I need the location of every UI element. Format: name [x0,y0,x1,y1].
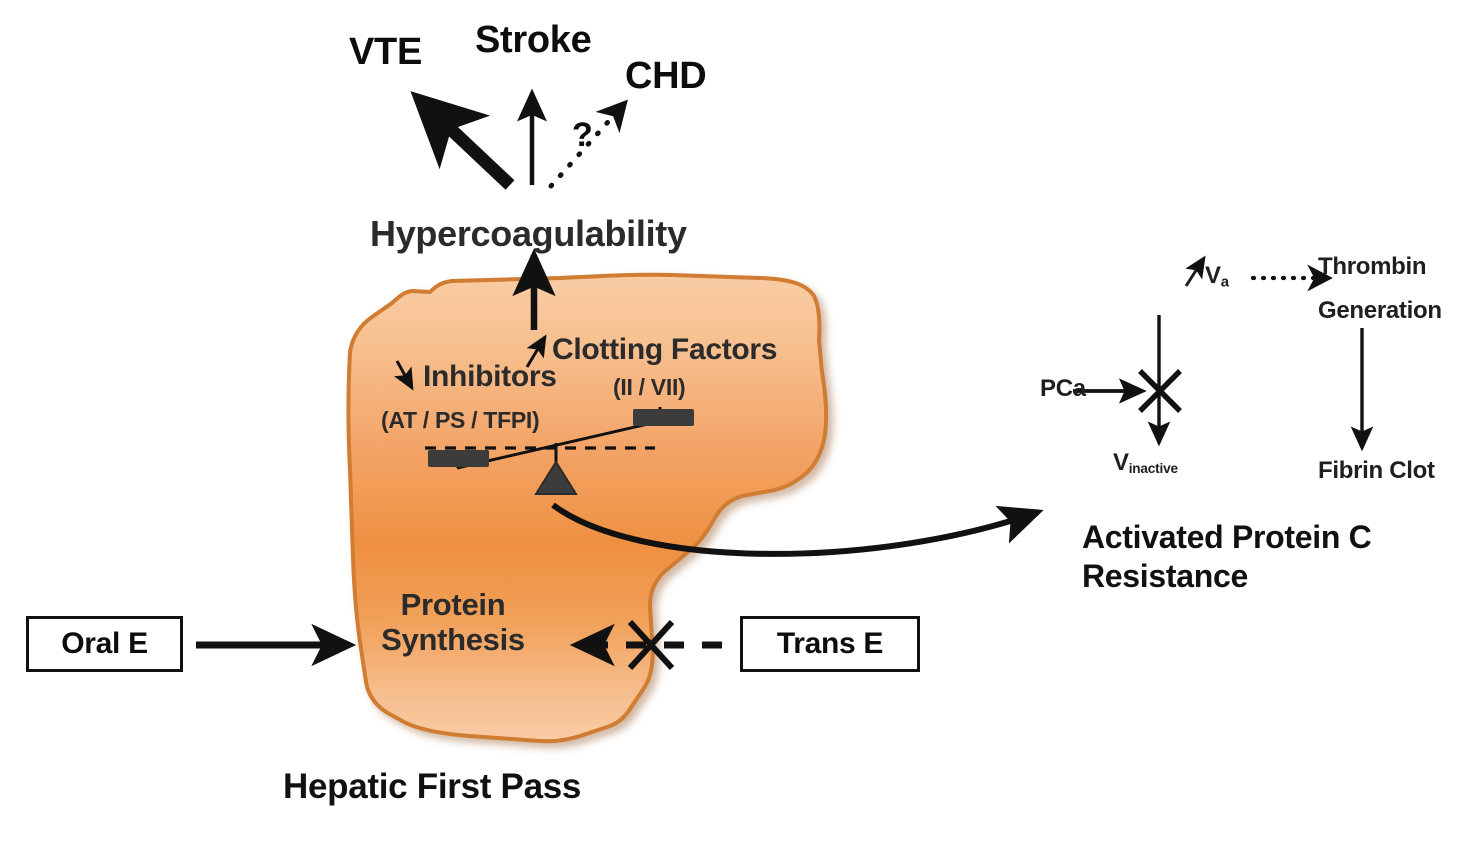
outcome-label-stroke: Stroke [475,19,591,62]
factor-va-label: Va [1205,263,1229,291]
apc-resistance-title: Activated Protein C Resistance [1082,518,1412,596]
hypercoagulability-label: Hypercoagulability [370,214,687,254]
diagram-canvas: VTE Stroke CHD ? Hypercoagulability Clot… [0,0,1472,841]
weight-clotting-factors [633,409,694,426]
v-inactive-symbol: V [1113,449,1129,476]
inhibitors-detail: (AT / PS / TFPI) [381,408,539,434]
figure-caption: Hepatic First Pass [283,767,581,806]
v-inactive-subscript: inactive [1129,461,1178,476]
oral-estrogen-box[interactable]: Oral E [26,616,183,672]
apc-resistance-line2: Resistance [1082,557,1412,596]
diagram-vector-layer [0,0,1472,841]
transdermal-estrogen-box[interactable]: Trans E [740,616,920,672]
protein-synthesis-line2: Synthesis [358,623,548,658]
inhibitors-label: Inhibitors [423,360,557,394]
factor-va-symbol: V [1205,262,1221,289]
outcome-label-chd: CHD [625,55,706,98]
fibrin-clot-label: Fibrin Clot [1318,458,1435,485]
outcome-label-vte: VTE [349,31,422,74]
clotting-factors-label: Clotting Factors [552,333,777,367]
transdermal-estrogen-label: Trans E [777,627,883,661]
oral-estrogen-label: Oral E [61,627,148,661]
thrombin-generation-line2: Generation [1318,298,1442,325]
arrow-hyper-to-vte [423,103,510,185]
protein-synthesis-label: Protein Synthesis [358,588,548,657]
apc-resistance-line1: Activated Protein C [1082,518,1412,557]
protein-synthesis-line1: Protein [358,588,548,623]
v-inactive-label: Vinactive [1113,450,1178,477]
uncertainty-question-mark: ? [572,116,592,154]
clotting-factors-detail: (II / VII) [613,375,685,401]
thrombin-generation-line1: Thrombin [1318,254,1426,281]
factor-va-subscript: a [1221,274,1229,290]
pca-label: PCa [1040,376,1086,403]
weight-inhibitors [428,450,489,467]
